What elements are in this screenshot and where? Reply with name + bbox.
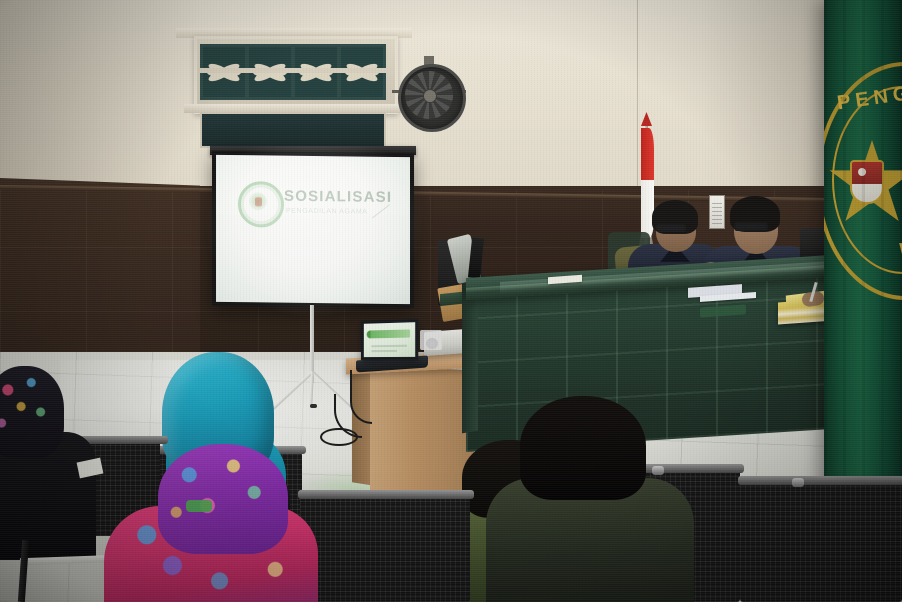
laptop-slide-title-bar	[371, 329, 411, 338]
audience-chair-rail	[738, 476, 902, 485]
chair-knob	[792, 478, 804, 487]
attendee-5-head	[520, 396, 646, 500]
audience-chair[interactable]	[740, 482, 902, 602]
audience-chair[interactable]	[300, 496, 470, 602]
white-equipment-box	[420, 330, 442, 350]
tripod-foot	[310, 404, 317, 408]
wall-notice	[709, 195, 725, 229]
presenter-laptop	[361, 319, 418, 360]
indonesia-flag-red-band	[641, 128, 654, 182]
laptop-slide-line	[371, 350, 396, 352]
attendee-3-hijab-trim	[186, 500, 212, 512]
speaker-left-glasses-icon	[656, 224, 686, 232]
judges-bench-end-cap	[462, 281, 478, 434]
tripod-leg	[309, 372, 314, 406]
indonesia-flag-white-band	[641, 180, 654, 238]
chair-knob	[652, 466, 664, 475]
presentation-table-body	[370, 366, 474, 499]
laptop-display	[364, 322, 415, 357]
attendee-3-floral-hijab	[158, 444, 288, 554]
cable-loop	[320, 428, 358, 446]
laptop-slide-line	[371, 345, 407, 347]
audience-chair-rail	[298, 490, 474, 499]
photo-scene: SOSIALISASI PENGADILAN AGAMA	[0, 0, 902, 602]
attendee-1-floral-hijab	[0, 366, 64, 458]
speaker-right-glasses-icon	[734, 222, 768, 231]
